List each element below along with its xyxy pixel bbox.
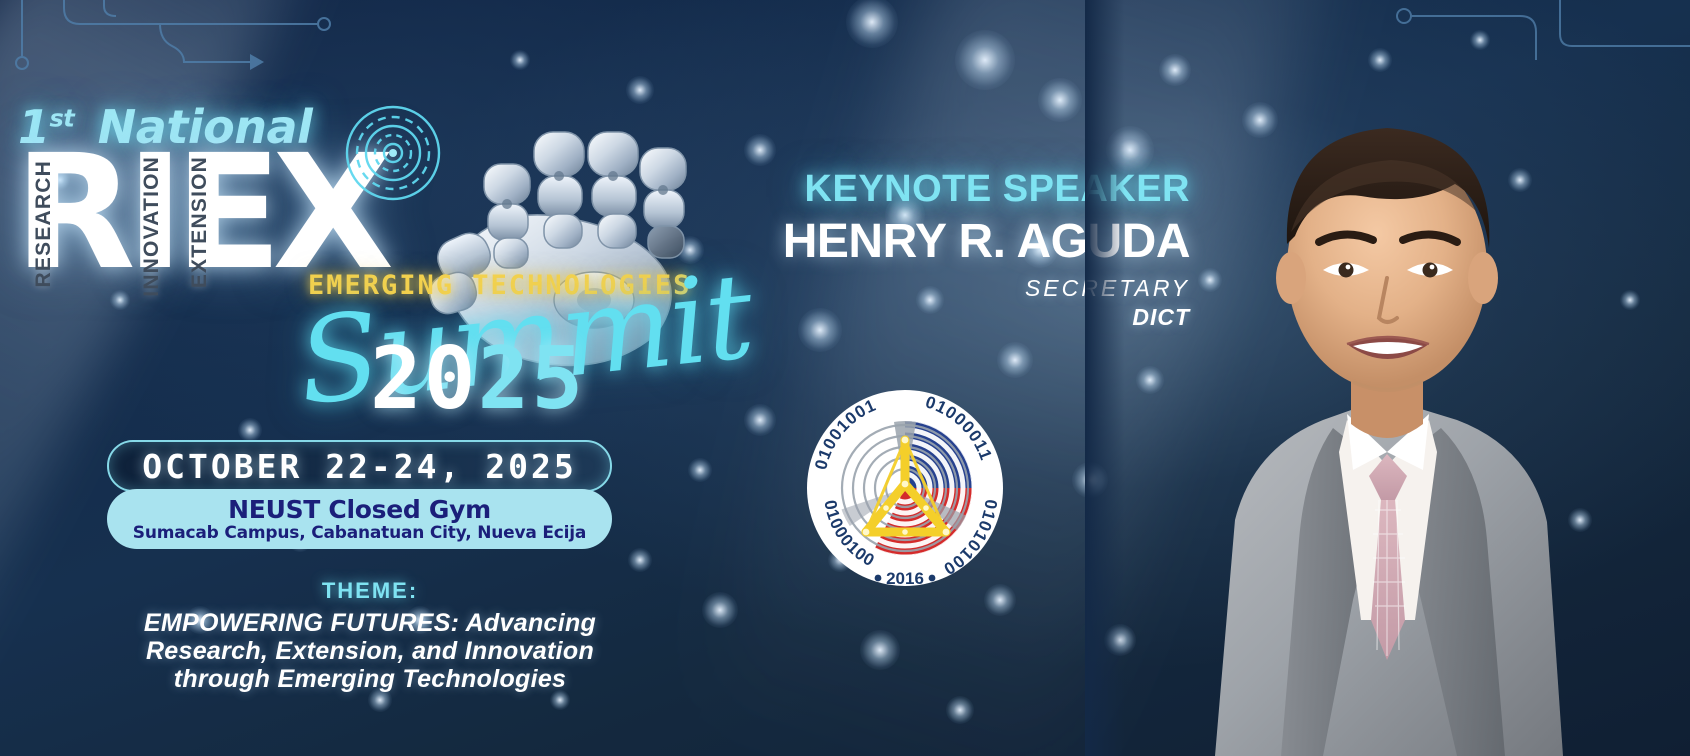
event-banner: 1st National RIEX RESEARCH INNOVATION EX… <box>0 0 1690 756</box>
bokeh-dot <box>550 690 570 710</box>
event-venue-badge: NEUST Closed Gym Sumacab Campus, Cabanat… <box>107 489 612 549</box>
venue-address: Sumacab Campus, Cabanatuan City, Nueva E… <box>133 523 586 543</box>
event-year-second: 25 <box>478 329 586 429</box>
theme-line-1: EMPOWERING FUTURES: Advancing <box>60 609 680 637</box>
event-year: 2025 <box>370 336 585 422</box>
theme-label: THEME: <box>60 578 680 604</box>
event-date-text: OCTOBER 22-24, 2025 <box>142 447 577 486</box>
bokeh-dot <box>846 0 898 48</box>
bokeh-dot <box>238 418 262 442</box>
bokeh-dot <box>744 404 776 436</box>
event-year-first: 20 <box>370 329 478 429</box>
seal-year: 2016 <box>886 569 924 588</box>
acronym-word-innovation: INNOVATION <box>140 156 164 297</box>
dict-seal-logo: 01001001 01000011 01000100 01010100 <box>800 380 1010 595</box>
speaker-portrait-photo <box>1085 0 1690 756</box>
theme-line-3: through Emerging Technologies <box>60 665 680 693</box>
theme-line-2: Research, Extension, and Innovation <box>60 637 680 665</box>
bokeh-dot <box>628 548 652 572</box>
acronym-word-research: RESEARCH <box>32 160 56 287</box>
event-logo: 1st National RIEX RESEARCH INNOVATION EX… <box>8 98 738 418</box>
event-date-badge: OCTOBER 22-24, 2025 <box>107 440 612 492</box>
bokeh-dot <box>688 458 712 482</box>
bokeh-dot <box>744 134 776 166</box>
theme-block: THEME: EMPOWERING FUTURES: Advancing Res… <box>60 578 680 693</box>
venue-name: NEUST Closed Gym <box>228 496 491 523</box>
acronym-word-extension: EXTENSION <box>188 156 212 288</box>
theme-text: EMPOWERING FUTURES: Advancing Research, … <box>60 609 680 693</box>
